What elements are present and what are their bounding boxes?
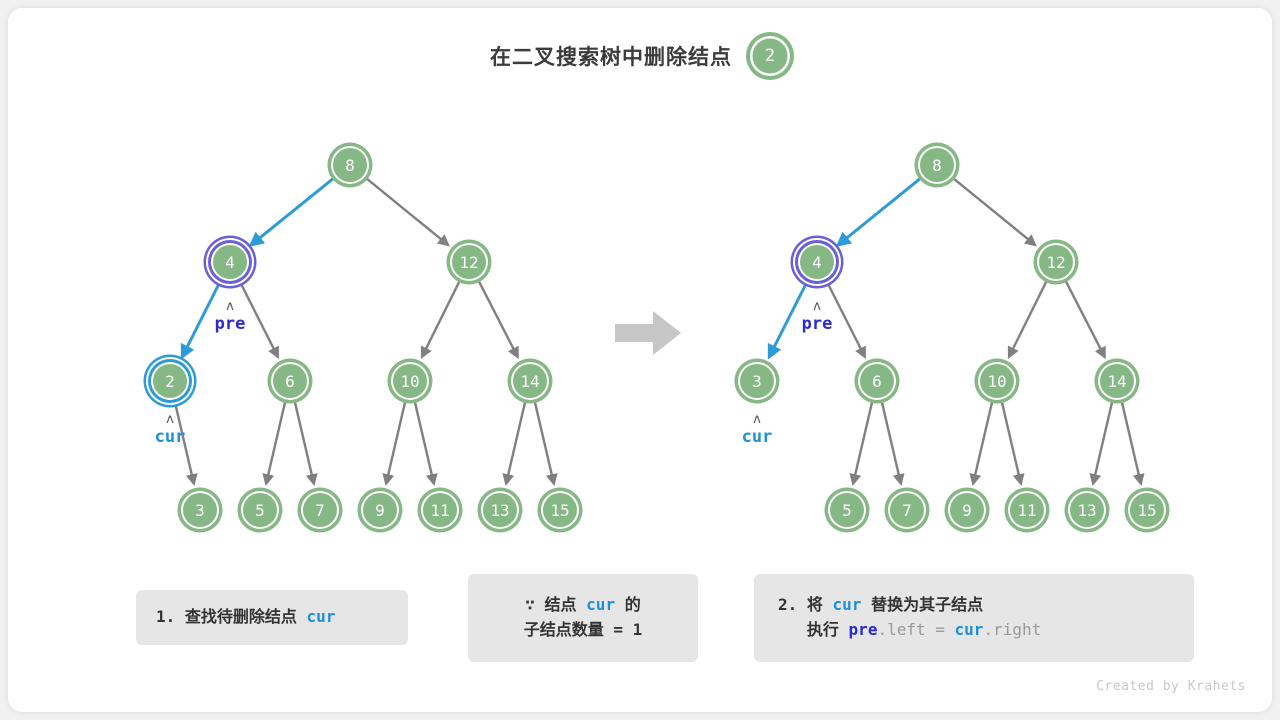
tree-node-3: 3 (181, 491, 219, 529)
tree-node-13: 13 (1068, 491, 1106, 529)
tree-node-4: 4 (211, 243, 249, 281)
caption-step-1-prefix: 1. 查找待删除结点 (156, 607, 307, 626)
pointer-label-text: pre (802, 314, 833, 334)
tree-edge (973, 401, 992, 483)
caption-reason: ∵ 结点 cur 的 子结点数量 = 1 (468, 574, 698, 662)
tree-edge (479, 281, 518, 357)
caption-step-2-equals: = (926, 620, 955, 639)
tree-edge (1009, 281, 1047, 357)
caption-step-2-cur-attr: .right (983, 620, 1041, 639)
tree-node-9: 9 (361, 491, 399, 529)
caret-icon: ʌ (777, 300, 857, 313)
tree-node-12: 12 (1037, 243, 1075, 281)
tree-node-3: 3 (738, 362, 776, 400)
tree-node-14: 14 (511, 362, 549, 400)
tree-edge (422, 281, 460, 357)
caption-step-2-exec-prefix: 执行 (778, 620, 849, 639)
pointer-label-pre: ʌpre (190, 300, 270, 333)
tree-node-4: 4 (798, 243, 836, 281)
tree-edge (506, 401, 525, 483)
tree-node-9: 9 (948, 491, 986, 529)
tree-edge (266, 401, 285, 483)
tree-node-15: 15 (1128, 491, 1166, 529)
pointer-label-cur: ʌcur (717, 413, 797, 446)
caption-reason-var: cur (586, 595, 615, 614)
caption-reason-line-1: ∵ 结点 cur 的 (525, 593, 640, 618)
title-row: 在二叉搜索树中删除结点 2 (8, 36, 1272, 76)
page-title: 在二叉搜索树中删除结点 (490, 41, 732, 71)
tree-edge (853, 401, 872, 483)
pointer-label-text: cur (155, 427, 186, 447)
caption-step-2-line-1: 2. 将 cur 替换为其子结点 (778, 593, 1170, 618)
tree-node-13: 13 (481, 491, 519, 529)
pointer-label-cur: ʌcur (130, 413, 210, 446)
caption-step-2-pre-var: pre (849, 620, 878, 639)
caret-icon: ʌ (190, 300, 270, 313)
caption-step-2: 2. 将 cur 替换为其子结点 执行 pre.left = cur.right (754, 574, 1194, 662)
tree-node-5: 5 (828, 491, 866, 529)
tree-node-12: 12 (450, 243, 488, 281)
tree-node-8: 8 (918, 146, 956, 184)
caption-step-2-pre-attr: .left (877, 620, 925, 639)
right-arrow-icon (613, 308, 683, 363)
caption-reason-suffix: 的 (615, 595, 641, 614)
caption-step-1: 1. 查找待删除结点 cur (136, 590, 408, 645)
tree-edge (953, 178, 1035, 245)
diagram-card: 在二叉搜索树中删除结点 2 84122610143579111315ʌpreʌc… (8, 8, 1272, 712)
tree-edge (1093, 401, 1112, 483)
pointer-label-pre: ʌpre (777, 300, 857, 333)
title-step-badge: 2 (750, 36, 790, 76)
tree-edge (366, 178, 448, 245)
tree-node-11: 11 (421, 491, 459, 529)
tree-edge (1002, 401, 1021, 483)
caret-icon: ʌ (130, 413, 210, 426)
caption-step-2-cur-var: cur (955, 620, 984, 639)
tree-node-2: 2 (151, 362, 189, 400)
tree-node-8: 8 (331, 146, 369, 184)
tree-edge (415, 401, 434, 483)
tree-edge (251, 178, 334, 245)
caption-step-2-line-2: 执行 pre.left = cur.right (778, 618, 1170, 643)
tree-node-6: 6 (858, 362, 896, 400)
tree-node-14: 14 (1098, 362, 1136, 400)
tree-node-5: 5 (241, 491, 279, 529)
tree-node-11: 11 (1008, 491, 1046, 529)
caret-icon: ʌ (717, 413, 797, 426)
caption-reason-line-2: 子结点数量 = 1 (524, 618, 643, 643)
caption-step-1-var: cur (307, 607, 336, 626)
tree-node-10: 10 (391, 362, 429, 400)
caption-step-2-suffix: 替换为其子结点 (861, 595, 983, 614)
tree-node-15: 15 (541, 491, 579, 529)
tree-node-7: 7 (888, 491, 926, 529)
tree-node-10: 10 (978, 362, 1016, 400)
caption-reason-prefix: ∵ 结点 (525, 595, 586, 614)
tree-node-6: 6 (271, 362, 309, 400)
caption-step-2-prefix: 2. 将 (778, 595, 833, 614)
caption-step-1-line: 1. 查找待删除结点 cur (156, 605, 388, 630)
tree-edge (386, 401, 405, 483)
tree-edge (838, 178, 921, 245)
pointer-label-text: cur (742, 427, 773, 447)
credit-text: Created by Krahets (1096, 679, 1246, 694)
tree-edge (1066, 281, 1105, 357)
tree-node-7: 7 (301, 491, 339, 529)
tree-edge (882, 401, 901, 483)
pointer-label-text: pre (215, 314, 246, 334)
tree-edge (535, 401, 554, 483)
tree-edge (295, 401, 314, 483)
tree-edge (1122, 401, 1141, 483)
caption-step-2-var: cur (833, 595, 862, 614)
